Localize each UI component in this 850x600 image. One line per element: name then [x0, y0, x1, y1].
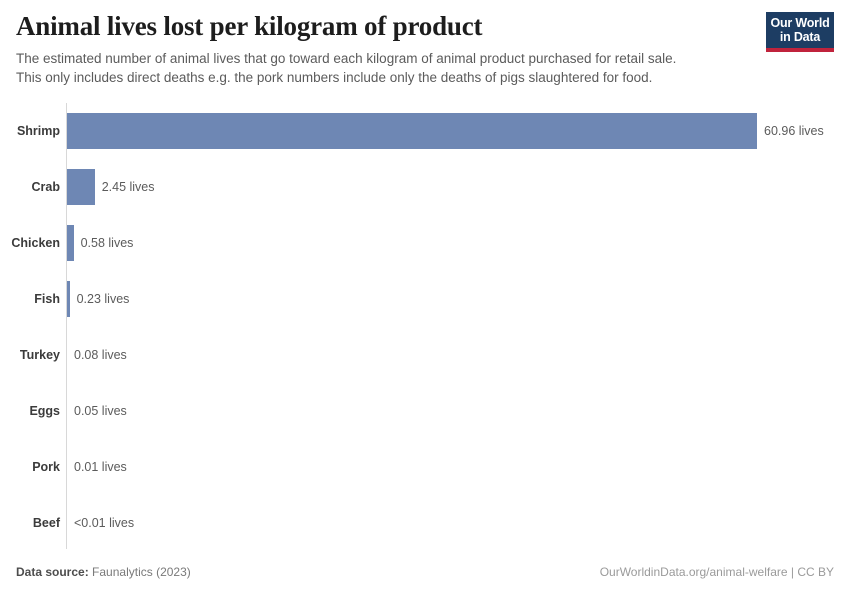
bar-row[interactable]: Shrimp60.96 lives	[0, 103, 850, 159]
bar-wrapper: <0.01 lives	[67, 505, 134, 541]
bar-value-label: 0.05 lives	[74, 404, 127, 418]
page-title: Animal lives lost per kilogram of produc…	[16, 10, 756, 42]
our-world-in-data-logo[interactable]: Our World in Data	[766, 12, 834, 52]
data-source-label: Data source:	[16, 565, 89, 579]
bar-category-label: Turkey	[0, 348, 60, 362]
bar[interactable]	[67, 281, 70, 317]
bar-category-label: Shrimp	[0, 124, 60, 138]
bar-category-label: Eggs	[0, 404, 60, 418]
chart-footer: Data source: Faunalytics (2023) OurWorld…	[16, 565, 834, 583]
data-source-value: Faunalytics (2023)	[92, 565, 191, 579]
bar-value-label: 0.01 lives	[74, 460, 127, 474]
bar-wrapper: 0.08 lives	[67, 337, 127, 373]
bar-wrapper: 0.58 lives	[67, 225, 133, 261]
bar-wrapper: 0.05 lives	[67, 393, 127, 429]
bar-value-label: 60.96 lives	[764, 124, 824, 138]
bar-value-label: 0.23 lives	[77, 292, 130, 306]
bar-wrapper: 0.01 lives	[67, 449, 127, 485]
bar-wrapper: 2.45 lives	[67, 169, 155, 205]
bar-category-label: Fish	[0, 292, 60, 306]
data-source: Data source: Faunalytics (2023)	[16, 565, 191, 579]
chart-subtitle-line-1: The estimated number of animal lives tha…	[16, 49, 776, 68]
chart-subtitle-line-2: This only includes direct deaths e.g. th…	[16, 68, 776, 87]
bar-category-label: Crab	[0, 180, 60, 194]
bar-value-label: 2.45 lives	[102, 180, 155, 194]
bar-category-label: Pork	[0, 460, 60, 474]
bar-value-label: 0.58 lives	[81, 236, 134, 250]
bar-row[interactable]: Chicken0.58 lives	[0, 215, 850, 271]
logo-line-2: in Data	[768, 30, 832, 44]
chart-header: Animal lives lost per kilogram of produc…	[16, 10, 834, 87]
bar-category-label: Beef	[0, 516, 60, 530]
bar-series: Shrimp60.96 livesCrab2.45 livesChicken0.…	[0, 103, 850, 549]
bar-row[interactable]: Eggs0.05 lives	[0, 383, 850, 439]
logo-line-1: Our World	[768, 16, 832, 30]
bar-row[interactable]: Turkey0.08 lives	[0, 327, 850, 383]
bar-row[interactable]: Crab2.45 lives	[0, 159, 850, 215]
bar-wrapper: 60.96 lives	[67, 113, 824, 149]
chart-container: Animal lives lost per kilogram of produc…	[0, 0, 850, 600]
plot-area: Shrimp60.96 livesCrab2.45 livesChicken0.…	[0, 103, 850, 549]
bar-value-label: 0.08 lives	[74, 348, 127, 362]
bar[interactable]	[67, 169, 95, 205]
bar-wrapper: 0.23 lives	[67, 281, 129, 317]
bar-row[interactable]: Pork0.01 lives	[0, 439, 850, 495]
attribution-link[interactable]: OurWorldinData.org/animal-welfare | CC B…	[600, 565, 834, 579]
bar-category-label: Chicken	[0, 236, 60, 250]
chart-subtitle: The estimated number of animal lives tha…	[16, 49, 776, 87]
bar-value-label: <0.01 lives	[74, 516, 134, 530]
bar[interactable]	[67, 225, 74, 261]
bar-row[interactable]: Fish0.23 lives	[0, 271, 850, 327]
bar-row[interactable]: Beef<0.01 lives	[0, 495, 850, 551]
bar[interactable]	[67, 113, 757, 149]
